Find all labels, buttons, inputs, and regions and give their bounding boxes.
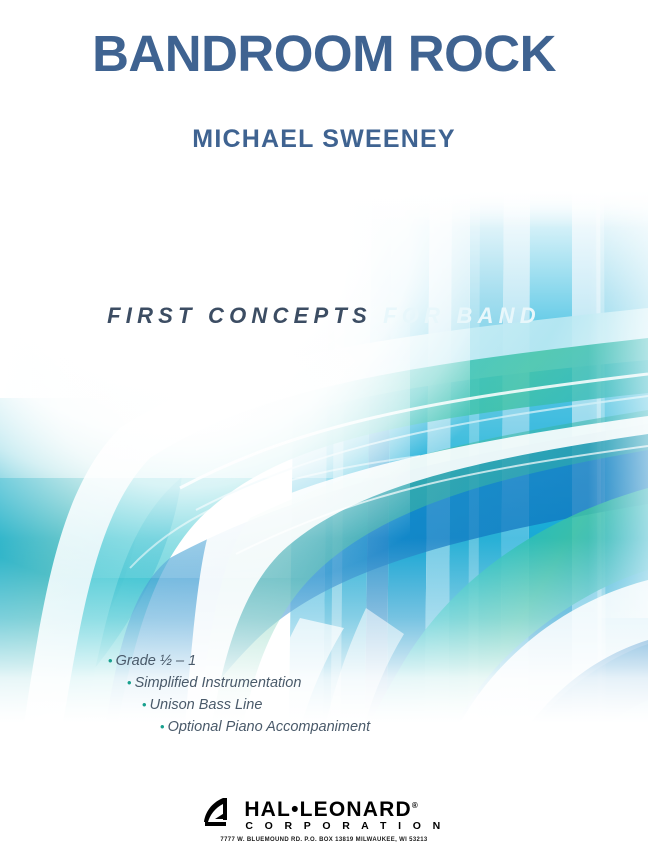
publisher-name-label: HAL•LEONARD: [244, 798, 412, 821]
publisher-logo: HAL•LEONARD® C O R P O R A T I O N: [203, 796, 444, 833]
bullet-dot-icon: •: [142, 697, 150, 712]
list-item: •Unison Bass Line: [0, 694, 648, 716]
publisher-address: 7777 W. BLUEMOUND RD. P.O. BOX 13819 MIL…: [0, 837, 648, 843]
series-primary-text: FIRST CONCEPTS: [107, 303, 372, 328]
publisher-subtitle: C O R P O R A T I O N: [244, 820, 444, 833]
list-item-label: Unison Bass Line: [150, 697, 263, 713]
list-item: •Optional Piano Accompaniment: [0, 716, 648, 738]
bullet-dot-icon: •: [108, 653, 116, 668]
list-item: •Grade ½ – 1: [0, 650, 648, 672]
hal-leonard-logo-icon: [203, 797, 239, 829]
publisher-name: HAL•LEONARD®: [244, 796, 444, 820]
registered-mark: ®: [412, 801, 419, 810]
bullet-dot-icon: •: [127, 675, 135, 690]
series-secondary-text: FOR BAND: [383, 303, 541, 328]
feature-list: •Grade ½ – 1 •Simplified Instrumentation…: [0, 650, 648, 738]
list-item-label: Grade ½ – 1: [116, 653, 197, 669]
publisher-logo-text: HAL•LEONARD® C O R P O R A T I O N: [244, 796, 444, 833]
composer-name: MICHAEL SWEENEY: [0, 82, 648, 154]
publisher-block: HAL•LEONARD® C O R P O R A T I O N 7777 …: [0, 796, 648, 843]
series-banner: FIRST CONCEPTS FOR BAND: [0, 303, 648, 329]
list-item-label: Optional Piano Accompaniment: [168, 719, 371, 735]
cover-header: BANDROOM ROCK MICHAEL SWEENEY: [0, 0, 648, 154]
bullet-dot-icon: •: [160, 719, 168, 734]
list-item: •Simplified Instrumentation: [0, 672, 648, 694]
list-item-label: Simplified Instrumentation: [135, 675, 302, 691]
page-title: BANDROOM ROCK: [0, 0, 648, 82]
